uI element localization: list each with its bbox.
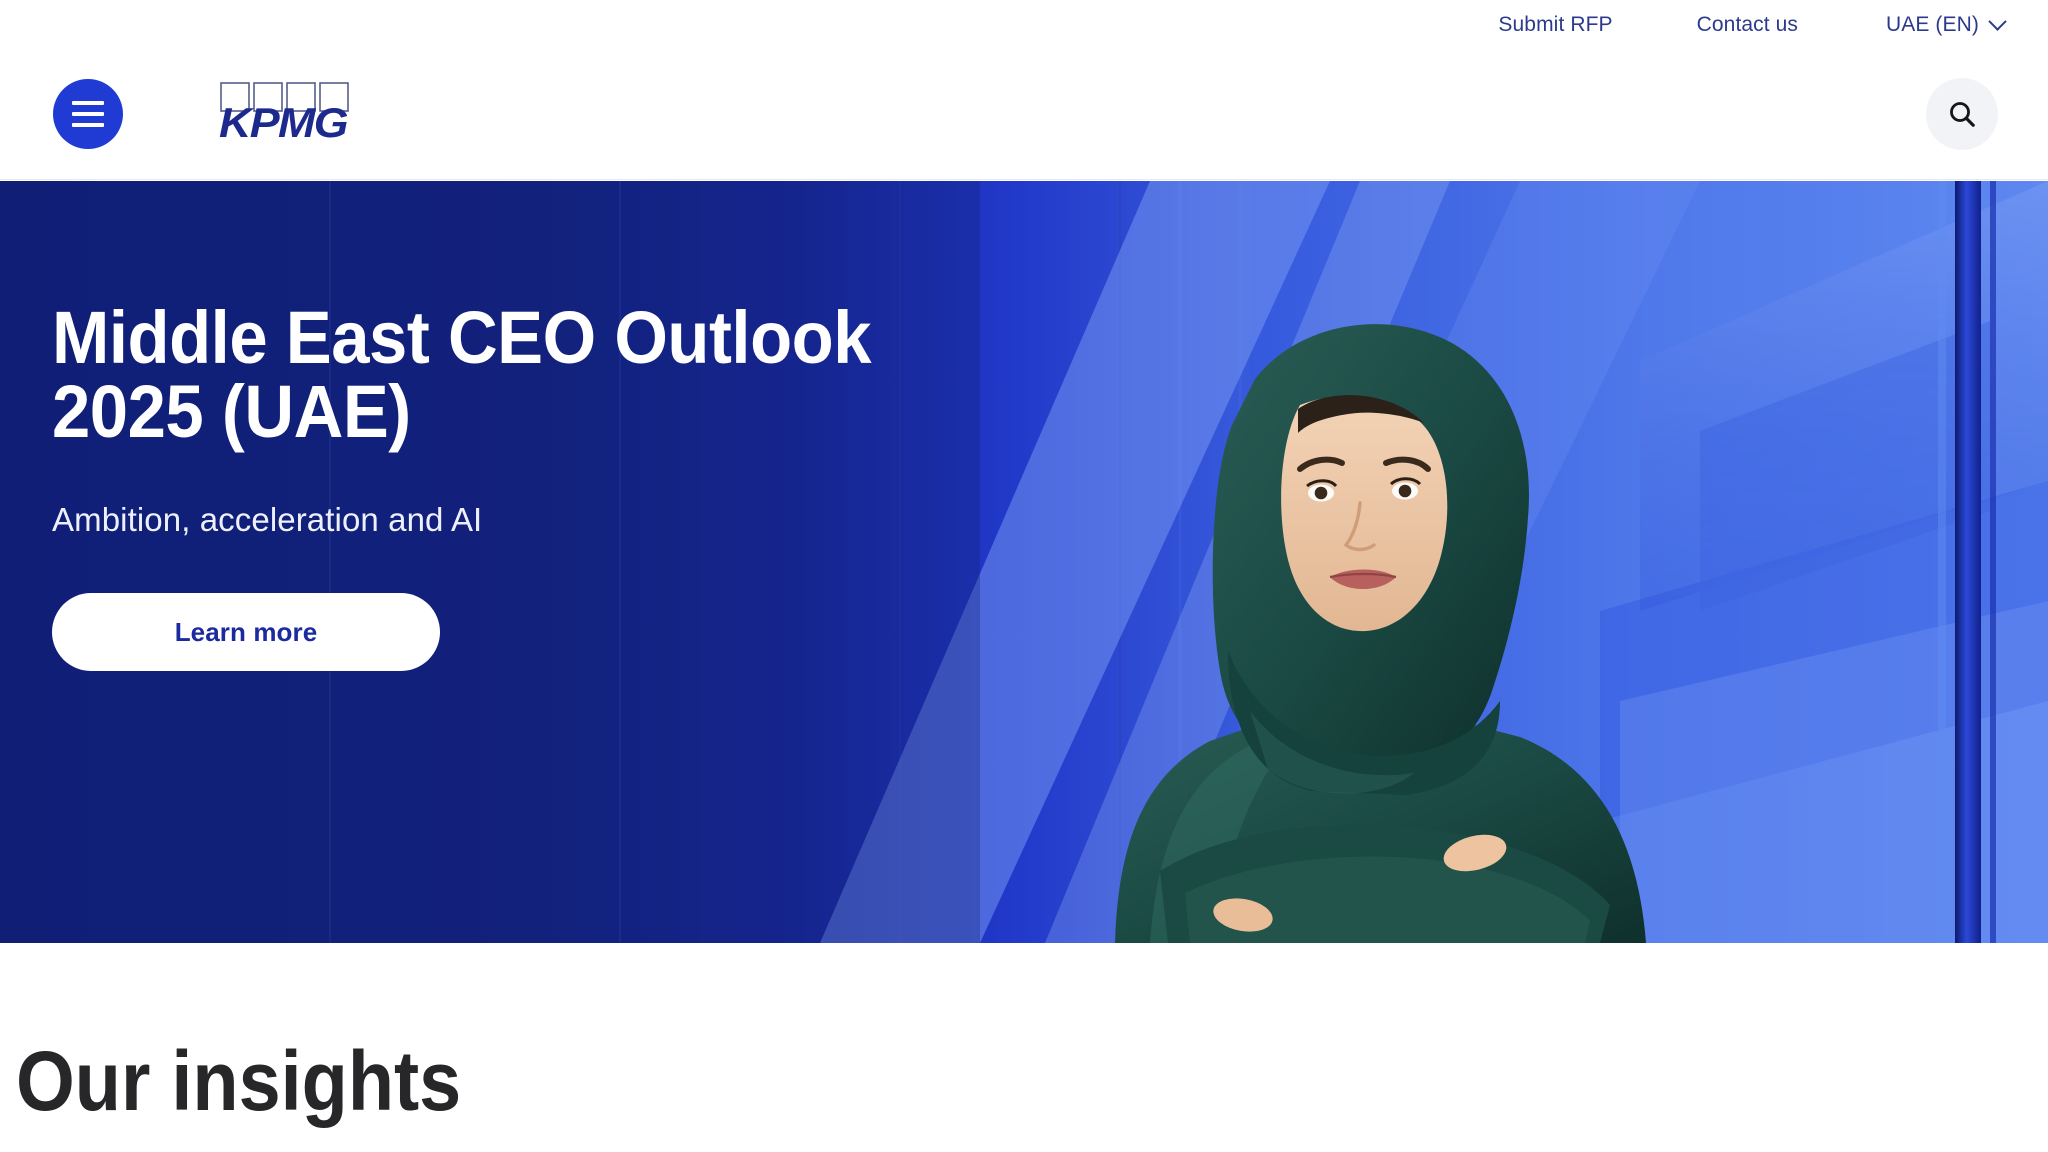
kpmg-logo[interactable]: KPMG xyxy=(219,80,351,147)
submit-rfp-link[interactable]: Submit RFP xyxy=(1498,14,1612,35)
chevron-down-icon xyxy=(1988,12,2006,30)
page-root: Submit RFP Contact us UAE (EN) KPMG xyxy=(0,0,2048,1152)
insights-section: Our insights xyxy=(0,943,2048,1152)
search-button[interactable] xyxy=(1926,78,1998,150)
hamburger-menu-icon xyxy=(72,101,104,105)
hero-copy: Middle East CEO Outlook 2025 (UAE) Ambit… xyxy=(52,301,952,671)
hero-banner: Middle East CEO Outlook 2025 (UAE) Ambit… xyxy=(0,181,2048,943)
contact-us-link[interactable]: Contact us xyxy=(1697,14,1798,35)
hamburger-menu-button[interactable] xyxy=(53,79,123,149)
locale-selector[interactable]: UAE (EN) xyxy=(1886,14,2004,35)
utility-bar: Submit RFP Contact us UAE (EN) xyxy=(0,0,2048,48)
hero-title-line1: Middle East CEO Outlook xyxy=(52,301,889,375)
svg-text:KPMG: KPMG xyxy=(219,99,348,142)
search-icon xyxy=(1946,98,1978,130)
locale-label: UAE (EN) xyxy=(1886,14,1979,35)
insights-heading: Our insights xyxy=(16,1039,461,1123)
site-header: KPMG xyxy=(0,48,2048,180)
hero-title-line2: 2025 (UAE) xyxy=(52,375,889,449)
hero-subtitle: Ambition, acceleration and AI xyxy=(52,501,952,539)
hamburger-menu-icon xyxy=(72,123,104,127)
learn-more-button[interactable]: Learn more xyxy=(52,593,440,671)
kpmg-logo-icon: KPMG xyxy=(219,80,351,142)
hamburger-menu-icon xyxy=(72,112,104,116)
